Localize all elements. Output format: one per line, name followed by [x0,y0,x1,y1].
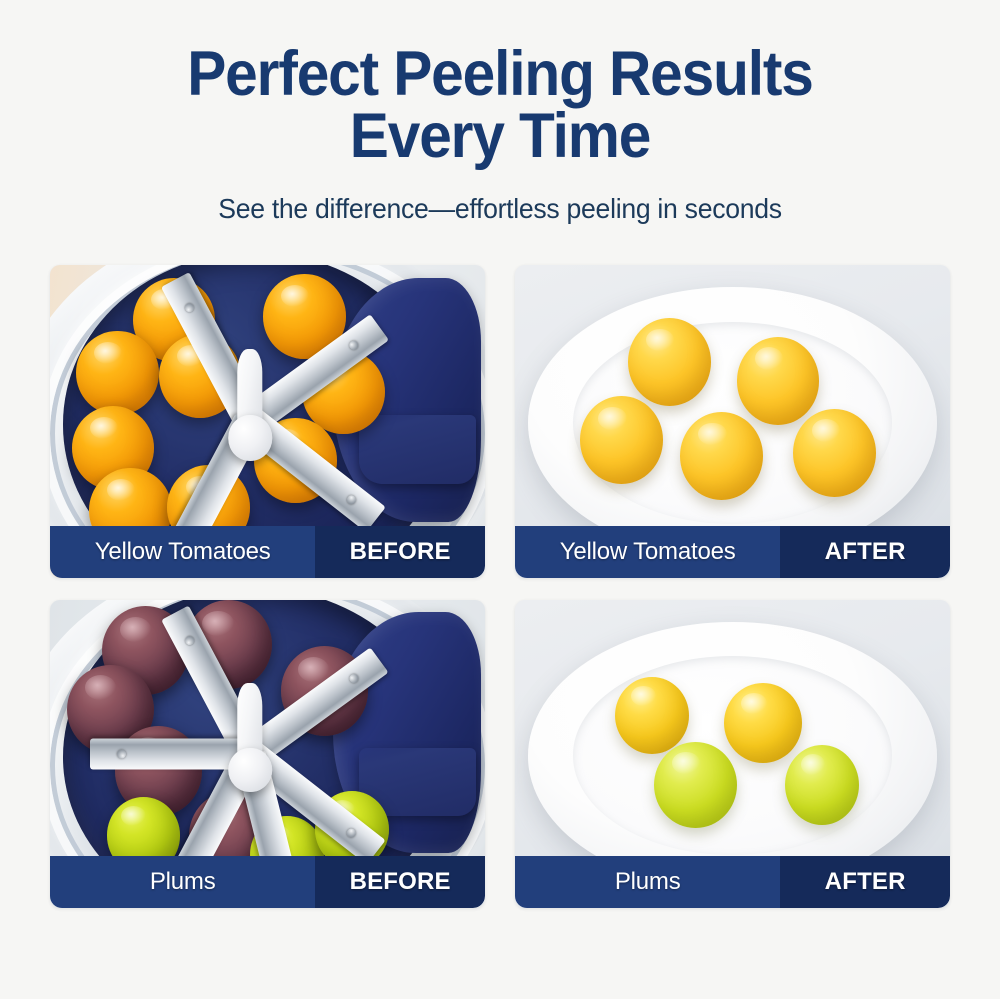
header: Perfect Peeling Results Every Time See t… [0,44,1000,225]
fruit-peeled-plum [615,677,689,754]
card-yellow-tomatoes-before[interactable]: Yellow Tomatoes BEFORE [50,265,485,578]
card-label-bar: Yellow Tomatoes AFTER [515,526,950,578]
comparison-grid: Yellow Tomatoes BEFORE Yellow To [50,265,950,908]
page-subtitle: See the difference—effortless peeling in… [25,193,975,225]
promo-page: Perfect Peeling Results Every Time See t… [0,0,1000,999]
card-fruit-name: Yellow Tomatoes [515,526,780,578]
headline-line-2: Every Time [35,106,965,168]
peeler-hub-knob [228,415,272,460]
card-plums-after[interactable]: Plums AFTER [515,600,950,908]
peeler-blade [90,738,250,769]
card-fruit-name: Plums [50,856,315,908]
card-label-bar: Plums BEFORE [50,856,485,908]
fruit-peeled-tomato [580,396,663,484]
card-stage-badge: BEFORE [315,526,485,578]
page-title: Perfect Peeling Results Every Time [35,44,965,167]
fruit-peeled-plum [785,745,859,825]
card-label-bar: Plums AFTER [515,856,950,908]
card-stage-badge: AFTER [780,856,950,908]
card-stage-badge: BEFORE [315,856,485,908]
card-plums-before[interactable]: Plums BEFORE [50,600,485,908]
card-fruit-name: Yellow Tomatoes [50,526,315,578]
fruit-peeled-tomato [793,409,876,497]
fruit-peeled-plum [654,742,737,828]
peeler-hub-knob [228,748,272,792]
fruit-peeled-plum [724,683,802,763]
card-label-bar: Yellow Tomatoes BEFORE [50,526,485,578]
fruit-peeled-tomato [737,337,820,425]
headline-line-1: Perfect Peeling Results [187,39,813,109]
card-yellow-tomatoes-after[interactable]: Yellow Tomatoes AFTER [515,265,950,578]
card-fruit-name: Plums [515,856,780,908]
card-stage-badge: AFTER [780,526,950,578]
fruit-peeled-tomato [680,412,763,500]
fruit-peeled-tomato [628,318,711,406]
serving-plate [528,622,937,890]
